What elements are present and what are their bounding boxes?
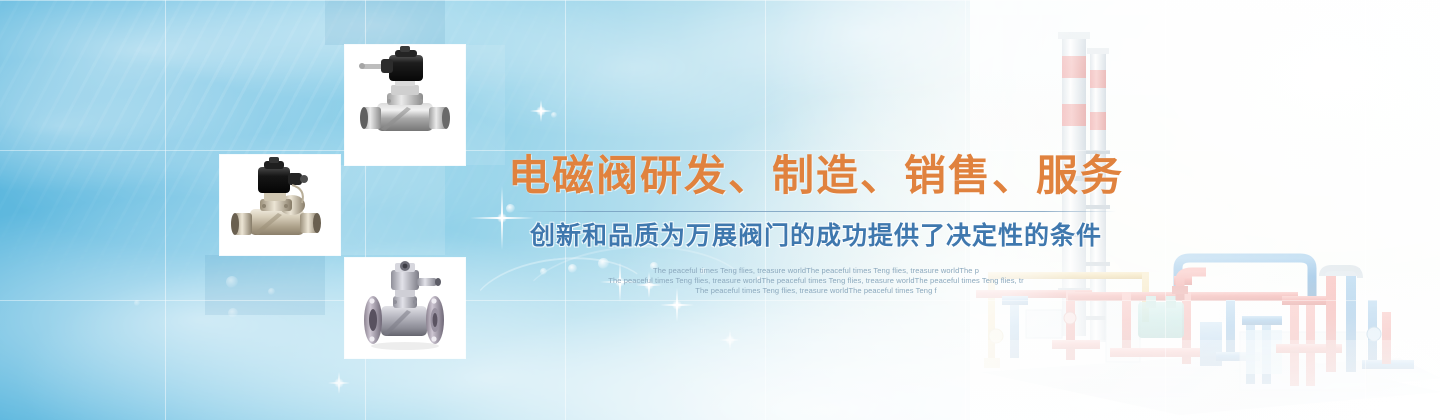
bokeh-dot-2 (551, 112, 557, 118)
banner-subheadline: 创新和品质为万展阀门的成功提供了决定性的条件 (506, 220, 1126, 252)
product-photo-solenoid-valve-brass-angle (220, 155, 340, 255)
bokeh-dot-5 (228, 308, 238, 318)
bokeh-dot-12 (134, 300, 140, 306)
product-photo-solenoid-valve-threaded-inline (345, 45, 465, 165)
bokeh-dot-3 (226, 276, 238, 288)
bokeh-dot-4 (268, 288, 275, 295)
headline-divider (516, 211, 1116, 212)
blurb-line-1: The peaceful times Teng flies, treasure … (506, 266, 1126, 276)
banner-copy: 电磁阀研发、制造、销售、服务 创新和品质为万展阀门的成功提供了决定性的条件 Th… (506, 150, 1126, 296)
banner-headline: 电磁阀研发、制造、销售、服务 (506, 150, 1126, 202)
product-photo-solenoid-valve-flanged (345, 258, 465, 358)
blurb-line-2: The peaceful times Teng flies, treasure … (506, 276, 1126, 286)
blurb-line-3: The peaceful times Teng flies, treasure … (506, 286, 1126, 296)
hero-banner: 电磁阀研发、制造、销售、服务 创新和品质为万展阀门的成功提供了决定性的条件 Th… (0, 0, 1440, 420)
banner-blurb: The peaceful times Teng flies, treasure … (506, 266, 1126, 296)
